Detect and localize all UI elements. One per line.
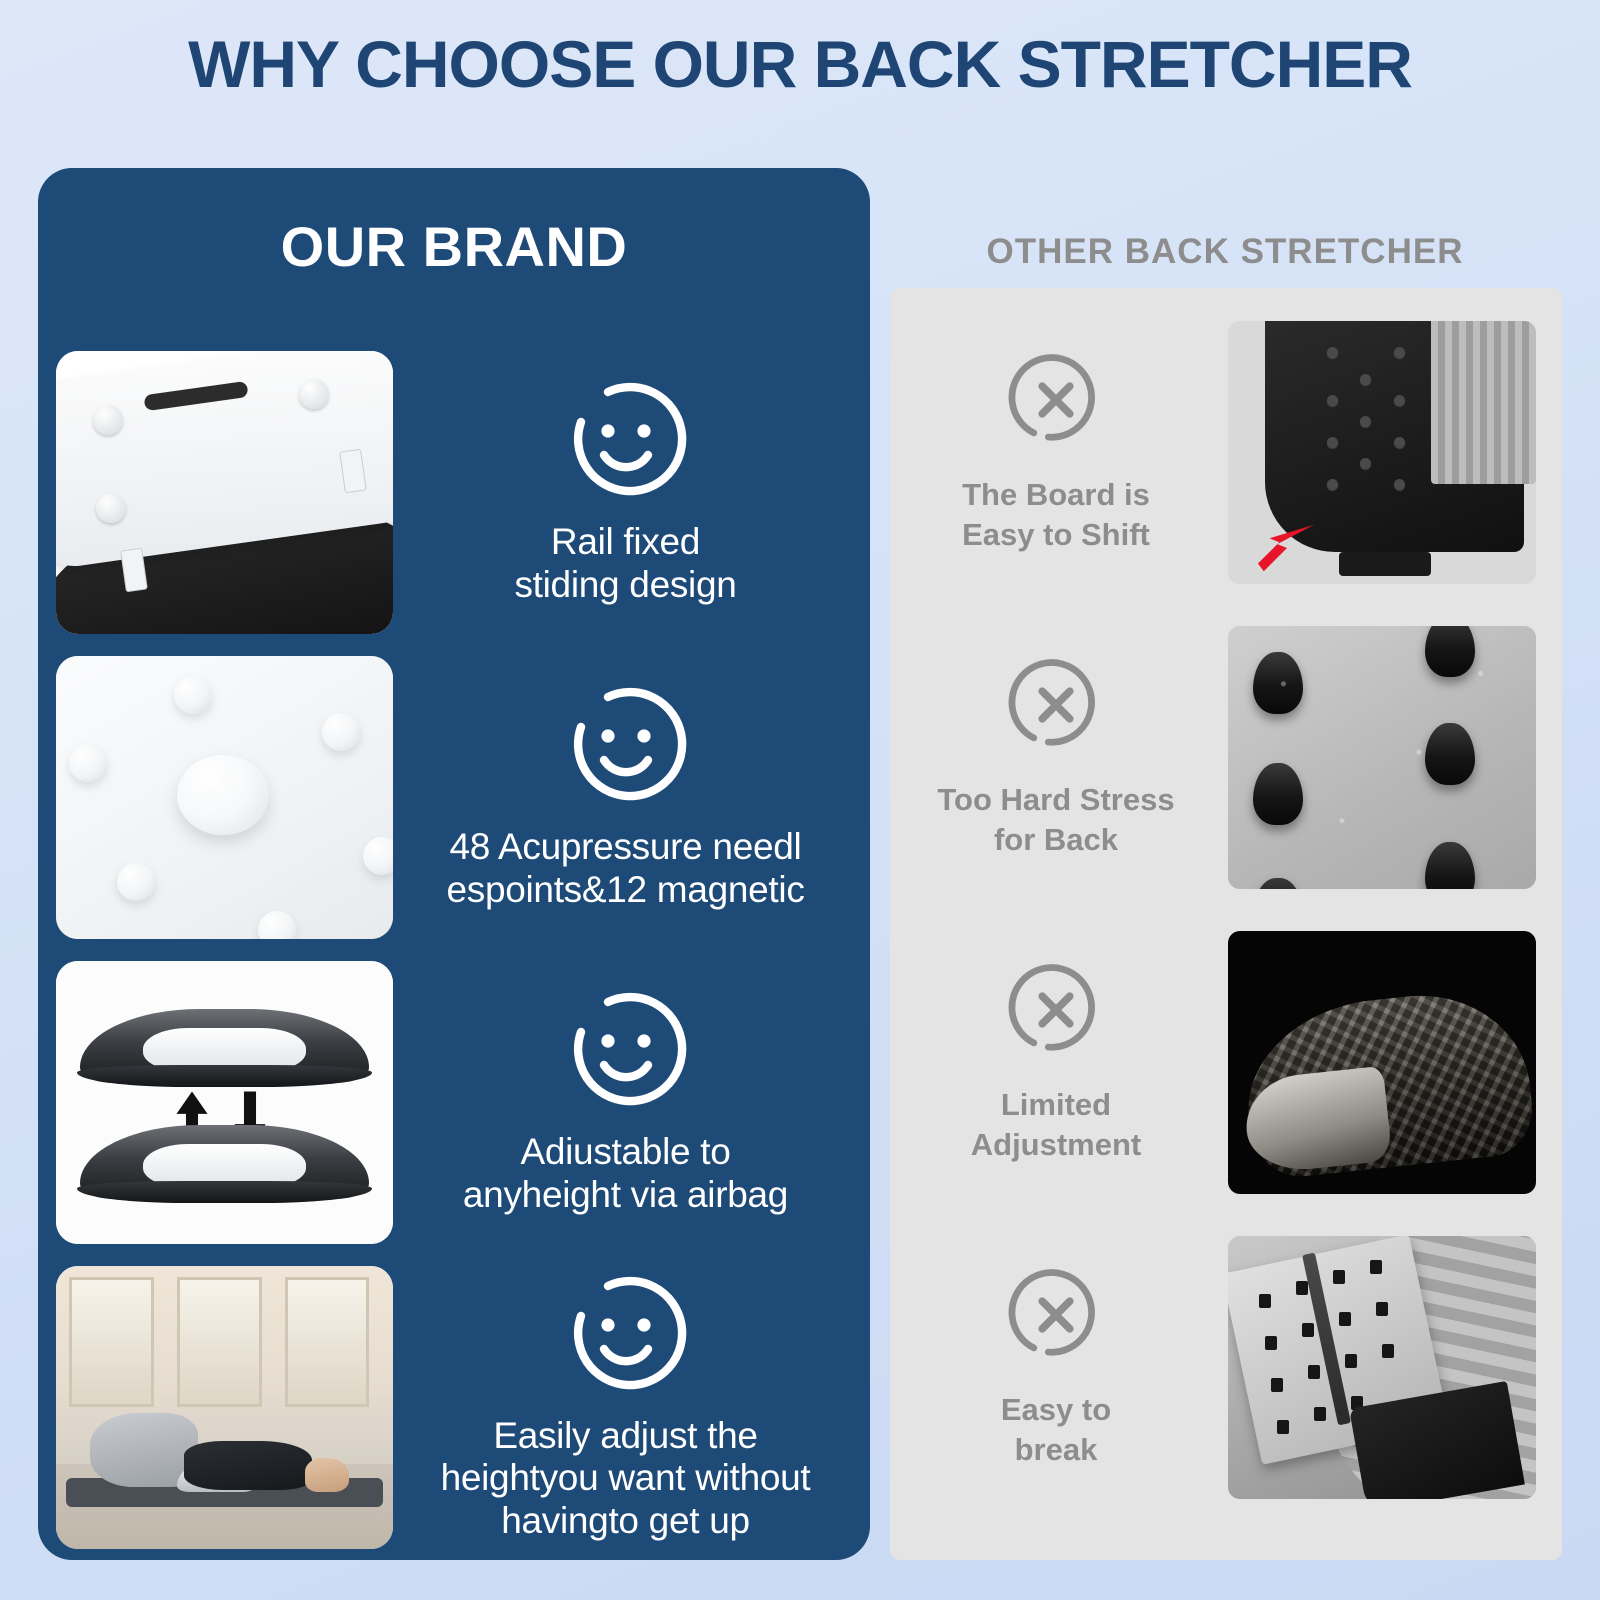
other-drawback-text: Limited Adjustment (890, 1085, 1222, 1164)
smiley-face-icon (562, 379, 690, 507)
brand-feature-row: Easily adjust the heightyou want without… (54, 1255, 854, 1560)
our-brand-feature-list: Rail fixed stiding design (38, 340, 870, 1560)
smiley-face-icon (562, 1273, 690, 1401)
brand-feature-text: 48 Acupressure needl espoints&12 magneti… (397, 826, 854, 910)
brand-feature-row: 48 Acupressure needl espoints&12 magneti… (54, 645, 854, 950)
brand-feature-row: Adiustable to anyheight via airbag (54, 950, 854, 1255)
other-brand-heading: OTHER BACK STRETCHER (890, 232, 1560, 272)
smiley-face-icon (562, 989, 690, 1117)
brand-feature-text: Easily adjust the heightyou want without… (397, 1415, 854, 1542)
brand-feature-4: Easily adjust the heightyou want without… (393, 1273, 854, 1542)
person-lying-on-stretcher-photo (56, 1266, 393, 1549)
brand-feature-text: Rail fixed stiding design (397, 521, 854, 605)
smiley-face-icon (562, 684, 690, 812)
rail-slide-board-photo (56, 351, 393, 634)
our-brand-panel: OUR BRAND (38, 168, 870, 1560)
brand-feature-3: Adiustable to anyheight via airbag (393, 989, 854, 1215)
broken-cracked-board-photo (1228, 1236, 1536, 1499)
brand-feature-1: Rail fixed stiding design (393, 379, 854, 605)
other-drawback-row: The Board is Easy to Shift (890, 300, 1562, 605)
brand-feature-row: Rail fixed stiding design (54, 340, 854, 645)
other-brand-drawback-list: The Board is Easy to Shift (890, 300, 1562, 1520)
spiky-arch-roller-photo (1228, 931, 1536, 1194)
page-title: WHY CHOOSE OUR BACK STRETCHER (0, 26, 1600, 102)
other-drawback-row: Limited Adjustment (890, 910, 1562, 1215)
brand-feature-2: 48 Acupressure needl espoints&12 magneti… (393, 684, 854, 910)
other-drawback-3: Limited Adjustment (890, 961, 1228, 1164)
white-acupressure-nubs-photo (56, 656, 393, 939)
adjustable-airbag-height-photo (56, 961, 393, 1244)
brand-feature-text: Adiustable to anyheight via airbag (397, 1131, 854, 1215)
x-circle-icon (1007, 351, 1105, 449)
other-drawback-1: The Board is Easy to Shift (890, 351, 1228, 554)
our-brand-heading: OUR BRAND (38, 214, 870, 279)
x-circle-icon (1007, 961, 1105, 1059)
hard-black-nubs-photo (1228, 626, 1536, 889)
other-drawback-row: Too Hard Stress for Back (890, 605, 1562, 910)
other-drawback-2: Too Hard Stress for Back (890, 656, 1228, 859)
other-drawback-row: Easy to break (890, 1215, 1562, 1520)
other-drawback-text: The Board is Easy to Shift (890, 475, 1222, 554)
x-circle-icon (1007, 1266, 1105, 1364)
black-board-shifting-photo (1228, 321, 1536, 584)
other-drawback-4: Easy to break (890, 1266, 1228, 1469)
x-circle-icon (1007, 656, 1105, 754)
red-arrow-icon (1256, 520, 1318, 576)
other-drawback-text: Too Hard Stress for Back (890, 780, 1222, 859)
other-drawback-text: Easy to break (890, 1390, 1222, 1469)
